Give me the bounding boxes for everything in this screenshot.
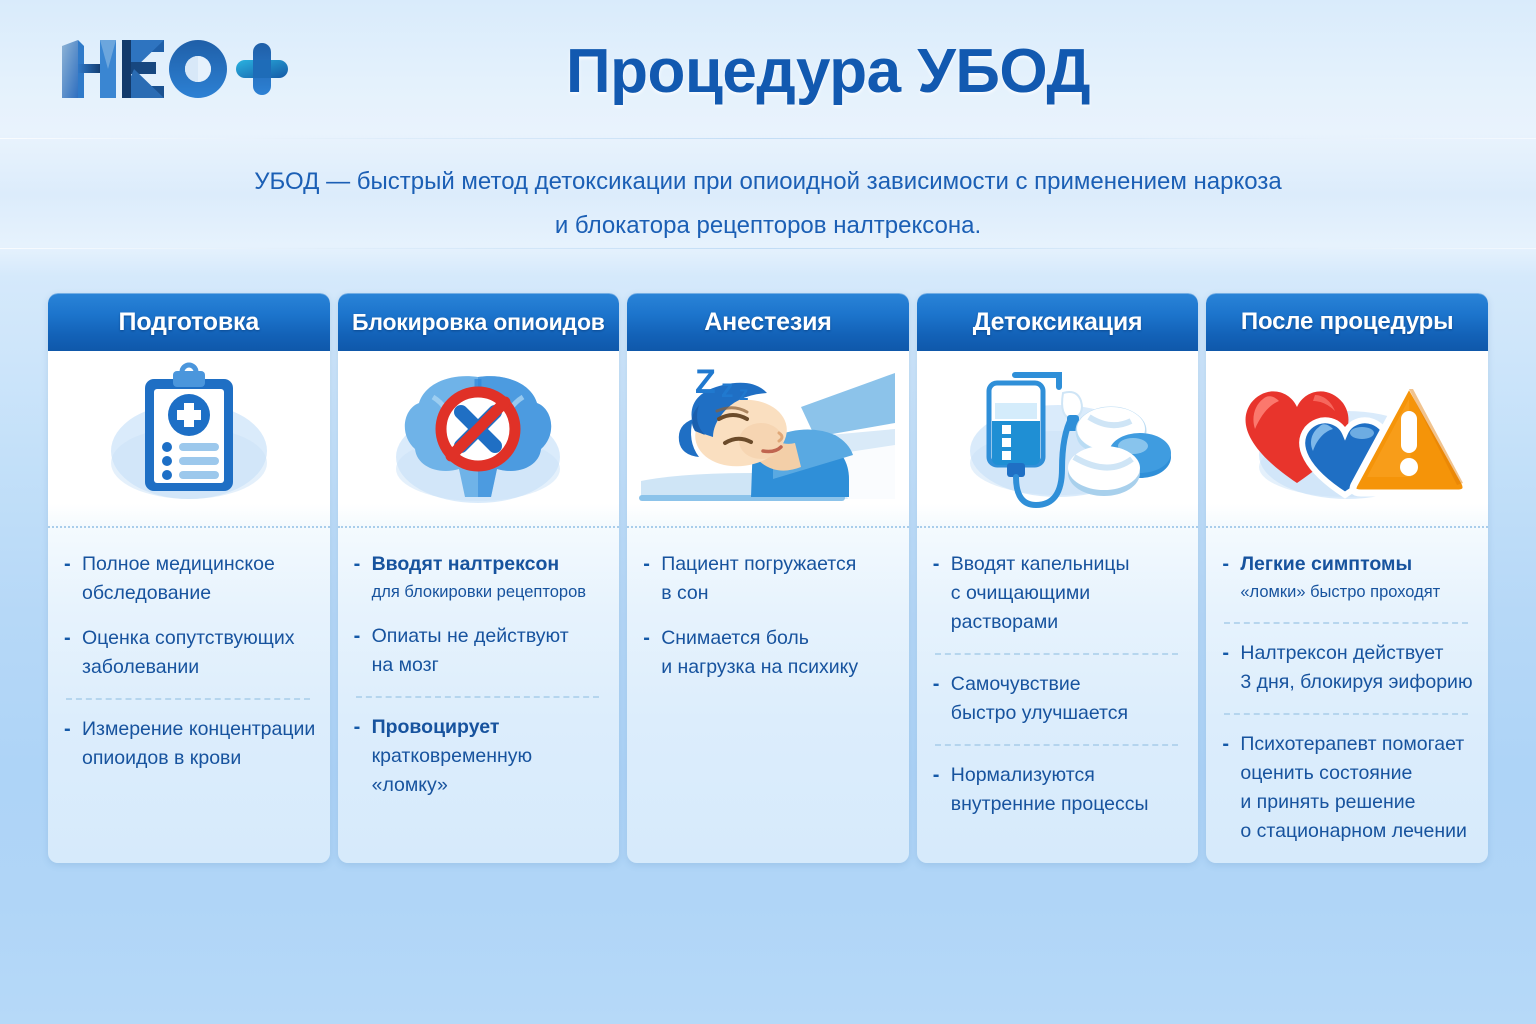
bullet-dash: - [643, 550, 650, 579]
subtitle-line-2: и блокатора рецепторов налтрексона. [0, 204, 1536, 248]
bullet-dash: - [1222, 639, 1229, 668]
bullet-line: и нагрузка на психику [661, 653, 895, 682]
list-item: - Легкие симптомы «ломки» быстро проходя… [1222, 550, 1474, 606]
clipboard-medical-icon [89, 359, 289, 519]
bullet-line: опиоидов в крови [82, 744, 316, 773]
bullet-dash: - [933, 550, 940, 579]
bullet-line: растворами [951, 608, 1185, 637]
card-divider [917, 526, 1199, 528]
hearts-warning-icon [1227, 359, 1467, 519]
list-item: - Нормализуются внутренние процессы [933, 761, 1185, 819]
bullet-list-opioid-blocking: - Вводят налтрексон для блокировки рецеп… [338, 528, 620, 863]
bullet-subline: «ломки» быстро проходят [1240, 579, 1474, 606]
header-divider-top [0, 138, 1536, 139]
bullet-line: Вводят налтрексон [372, 550, 606, 579]
step-header-detoxication: Детоксикация [917, 293, 1199, 351]
bullet-dash: - [1222, 550, 1229, 579]
list-item: - Опиаты не действуют на мозг [354, 622, 606, 680]
icon-area-anesthesia: Z z z [627, 351, 909, 526]
svg-text:z: z [739, 384, 749, 405]
bullet-line: о стационарном лечении [1240, 817, 1474, 846]
bullet-line: в сон [661, 579, 895, 608]
step-card-detoxication: Детоксикация [917, 293, 1199, 863]
bullet-dash: - [64, 715, 71, 744]
bullet-separator [1224, 622, 1468, 624]
list-item: - Вводят налтрексон для блокировки рецеп… [354, 550, 606, 606]
iv-drip-pills-icon [943, 359, 1173, 519]
bullet-line: оценить состояние [1240, 759, 1474, 788]
icon-area-after-procedure [1206, 351, 1488, 526]
page-title: Процедура УБОД [0, 36, 1536, 107]
list-item: - Измерение концентрации опиоидов в кров… [64, 715, 316, 773]
bullet-list-preparation: - Полное медицинское обследование - Оцен… [48, 528, 330, 863]
list-item: - Вводят капельницы с очищающими раствор… [933, 550, 1185, 637]
bullet-line: Налтрексон действует [1240, 639, 1474, 668]
bullet-subline: для блокировки рецепторов [372, 579, 606, 606]
bullet-list-after-procedure: - Легкие симптомы «ломки» быстро проходя… [1206, 528, 1488, 863]
brain-blocked-icon [373, 359, 583, 519]
subtitle-line-1: УБОД — быстрый метод детоксикации при оп… [0, 160, 1536, 204]
page-title-text: Процедура УБОД [446, 36, 1090, 107]
bullet-line: Нормализуются [951, 761, 1185, 790]
step-title-opioid-blocking: Блокировка опиоидов [352, 309, 605, 336]
card-divider [338, 526, 620, 528]
icon-area-detoxication [917, 351, 1199, 526]
bullet-line: Опиаты не действуют [372, 622, 606, 651]
bullet-dash: - [64, 550, 71, 579]
bullet-line: и принять решение [1240, 788, 1474, 817]
step-card-opioid-blocking: Блокировка опиоидов [338, 293, 620, 863]
card-divider [627, 526, 909, 528]
bullet-line: внутренние процессы [951, 790, 1185, 819]
list-item: - Самочувствие быстро улучшается [933, 670, 1185, 728]
bullet-separator [935, 744, 1179, 746]
bullet-line: обследование [82, 579, 316, 608]
list-item: - Психотерапевт помогает оценить состоян… [1222, 730, 1474, 846]
card-divider [48, 526, 330, 528]
bullet-dash: - [933, 670, 940, 699]
bullet-separator [1224, 713, 1468, 715]
bullet-line: быстро улучшается [951, 699, 1185, 728]
card-divider [1206, 526, 1488, 528]
bullet-line: Пациент погружается [661, 550, 895, 579]
bullet-list-detoxication: - Вводят капельницы с очищающими раствор… [917, 528, 1199, 863]
bullet-line: кратковременную [372, 742, 606, 771]
bullet-dash: - [933, 761, 940, 790]
bullet-dash: - [354, 713, 361, 742]
header-divider-bottom [0, 248, 1536, 249]
bullet-line: Снимается боль [661, 624, 895, 653]
bullet-line: Провоцирует [372, 713, 606, 742]
bullet-line: Оценка сопутствующих [82, 624, 316, 653]
bullet-line: Измерение концентрации [82, 715, 316, 744]
icon-area-preparation [48, 351, 330, 526]
bullet-line: заболевании [82, 653, 316, 682]
bullet-line: Вводят капельницы [951, 550, 1185, 579]
bullet-dash: - [1222, 730, 1229, 759]
step-title-after-procedure: После процедуры [1241, 308, 1454, 336]
svg-text:z: z [721, 375, 734, 403]
step-header-opioid-blocking: Блокировка опиоидов [338, 293, 620, 351]
bullet-dash: - [643, 624, 650, 653]
step-title-preparation: Подготовка [119, 308, 259, 337]
list-item: - Провоцирует кратковременную «ломку» [354, 713, 606, 800]
step-card-preparation: Подготовка [48, 293, 330, 863]
bullet-line: с очищающими [951, 579, 1185, 608]
step-header-anesthesia: Анестезия [627, 293, 909, 351]
steps-row: Подготовка [48, 293, 1488, 863]
sleeping-patient-icon: Z z z [633, 359, 903, 519]
step-card-anesthesia: Анестезия [627, 293, 909, 863]
bullet-line: «ломку» [372, 771, 606, 800]
bullet-line: Полное медицинское [82, 550, 316, 579]
bullet-separator [356, 696, 600, 698]
step-title-detoxication: Детоксикация [973, 308, 1143, 337]
bullet-line: на мозг [372, 651, 606, 680]
bullet-list-anesthesia: - Пациент погружается в сон - Снимается … [627, 528, 909, 863]
bullet-line: Легкие симптомы [1240, 550, 1474, 579]
step-header-preparation: Подготовка [48, 293, 330, 351]
bullet-line: Самочувствие [951, 670, 1185, 699]
bullet-line: Психотерапевт помогает [1240, 730, 1474, 759]
step-header-after-procedure: После процедуры [1206, 293, 1488, 351]
list-item: - Оценка сопутствующих заболевании [64, 624, 316, 682]
step-card-after-procedure: После процедуры [1206, 293, 1488, 863]
list-item: - Снимается боль и нагрузка на психику [643, 624, 895, 682]
bullet-separator [935, 653, 1179, 655]
bullet-separator [66, 698, 310, 700]
infographic-canvas: Процедура УБОД УБОД — быстрый метод дето… [0, 0, 1536, 1024]
bullet-dash: - [64, 624, 71, 653]
svg-text:Z: Z [695, 363, 716, 401]
page-subtitle: УБОД — быстрый метод детоксикации при оп… [0, 160, 1536, 248]
step-title-anesthesia: Анестезия [704, 308, 831, 337]
list-item: - Пациент погружается в сон [643, 550, 895, 608]
icon-area-opioid-blocking [338, 351, 620, 526]
bullet-dash: - [354, 550, 361, 579]
bullet-line: 3 дня, блокируя эифорию [1240, 668, 1474, 697]
list-item: - Налтрексон действует 3 дня, блокируя э… [1222, 639, 1474, 697]
bullet-dash: - [354, 622, 361, 651]
list-item: - Полное медицинское обследование [64, 550, 316, 608]
